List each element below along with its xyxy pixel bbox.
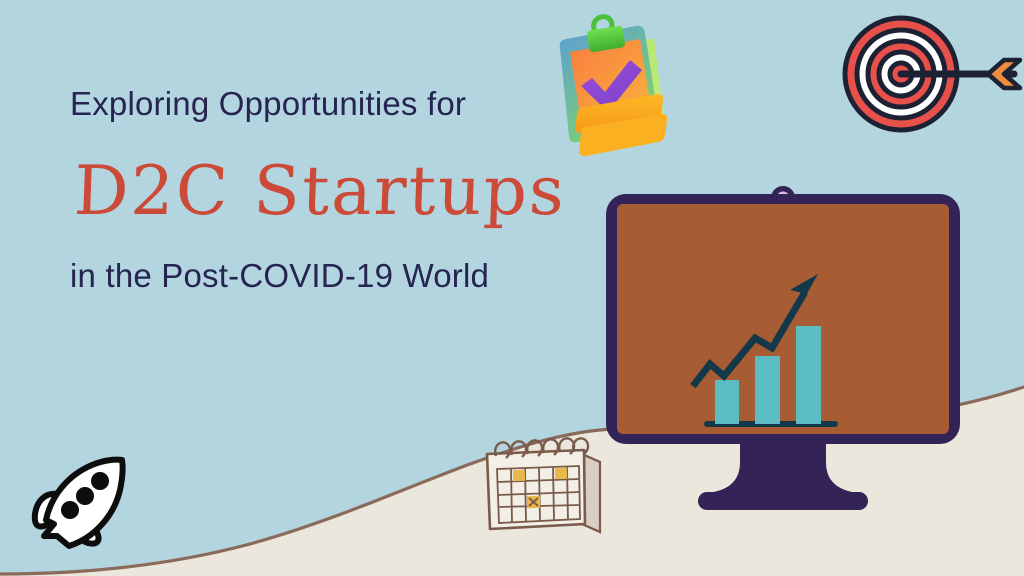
rocket-window	[61, 501, 79, 519]
rocket-icon	[26, 446, 138, 554]
headline-line-top: Exploring Opportunities for	[70, 84, 570, 124]
rocket-window	[91, 472, 109, 490]
calendar-highlight-cell	[555, 468, 567, 479]
headline-block: Exploring Opportunities for D2C Startups…	[70, 84, 570, 296]
monitor-screen	[617, 204, 949, 434]
calendar-body	[487, 450, 585, 529]
rocket-svg	[26, 446, 138, 554]
clipboard-svg	[548, 16, 672, 162]
monitor-base	[698, 492, 868, 510]
headline-line-main: D2C Startups	[73, 150, 572, 234]
chart-bar	[796, 326, 821, 424]
target-svg	[838, 12, 1020, 138]
headline-line-bottom: in the Post-COVID-19 World	[70, 256, 570, 296]
monitor-svg	[600, 186, 966, 526]
clipboard-clip	[587, 17, 626, 53]
target-bullseye-icon	[838, 12, 1020, 138]
banner-canvas: Exploring Opportunities for D2C Startups…	[0, 0, 1024, 576]
arrow-icon	[966, 60, 1020, 88]
desk-calendar-icon	[478, 428, 608, 548]
rocket-window	[76, 487, 94, 505]
chart-bar	[755, 356, 780, 424]
calendar-highlight-cell	[513, 470, 525, 481]
chart-bar	[715, 380, 739, 424]
monitor-illustration	[600, 186, 966, 526]
clipboard-check-icon	[548, 16, 672, 162]
calendar-svg	[478, 428, 608, 548]
